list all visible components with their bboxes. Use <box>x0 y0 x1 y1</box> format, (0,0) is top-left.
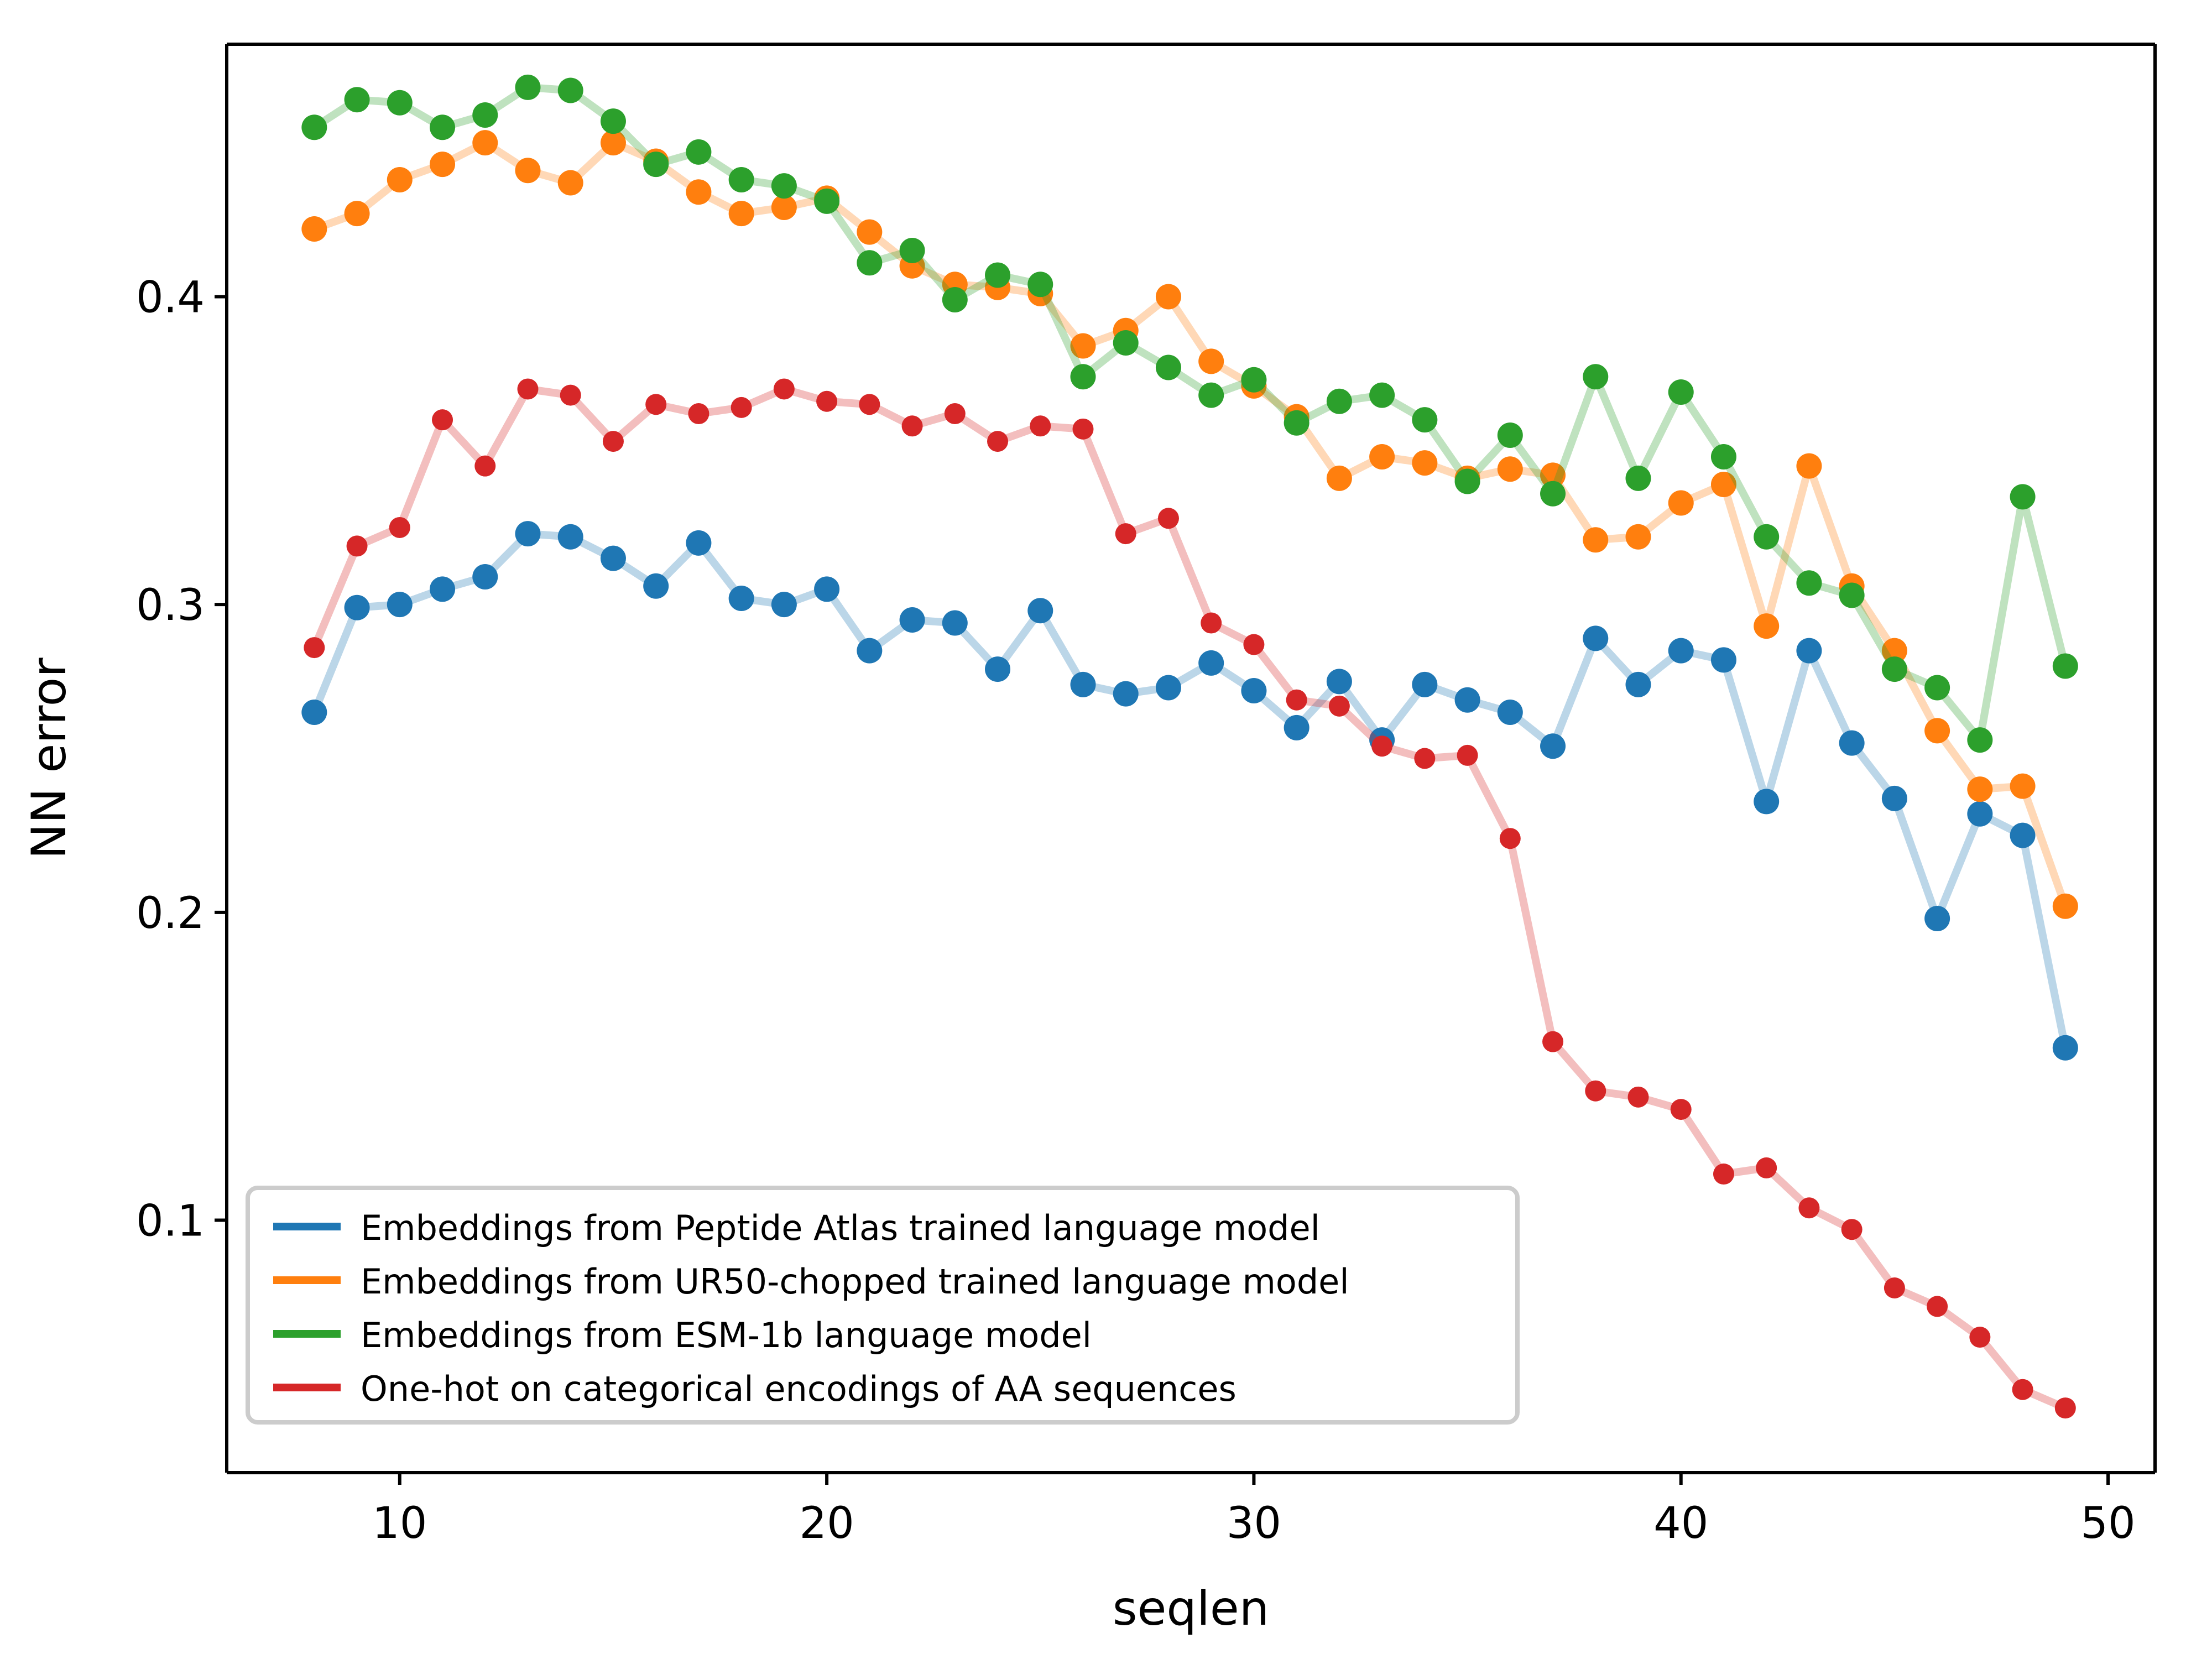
data-point <box>1542 1031 1563 1052</box>
data-point <box>1198 348 1224 374</box>
data-point <box>1027 272 1053 297</box>
data-point <box>729 167 754 192</box>
data-point <box>1369 444 1395 469</box>
data-point <box>1113 330 1139 356</box>
data-point <box>1668 490 1694 515</box>
data-point <box>900 238 925 263</box>
data-point <box>1286 690 1307 711</box>
data-point <box>2010 484 2036 509</box>
data-point <box>1884 1277 1905 1298</box>
data-point <box>1796 638 1822 664</box>
data-point <box>1156 284 1181 309</box>
data-point <box>1924 906 1950 931</box>
y-axis-ticks: 0.10.20.30.4 <box>136 273 227 1246</box>
data-point <box>560 385 581 406</box>
data-point <box>345 87 370 112</box>
data-point <box>1455 468 1480 494</box>
data-point <box>1158 508 1179 529</box>
y-tick-label: 0.4 <box>136 273 205 322</box>
data-point <box>1627 1087 1648 1108</box>
figure-canvas: 1020304050 0.10.20.30.4 seqlen NN error … <box>0 0 2212 1659</box>
data-point <box>1414 748 1435 769</box>
data-point <box>985 656 1010 682</box>
data-point <box>859 394 880 415</box>
data-point <box>517 378 538 399</box>
legend-label-0: Embeddings from Peptide Atlas trained la… <box>361 1208 1320 1248</box>
data-point <box>1713 1164 1734 1185</box>
data-point <box>1329 696 1350 717</box>
data-point <box>1924 675 1950 700</box>
data-point <box>304 637 325 658</box>
data-point <box>1625 524 1651 550</box>
data-point <box>1967 727 1992 753</box>
data-point <box>1371 735 1392 757</box>
data-point <box>472 102 498 128</box>
data-point <box>1198 650 1224 676</box>
data-point <box>301 700 327 725</box>
data-point <box>387 167 413 192</box>
data-point <box>1198 383 1224 408</box>
data-point <box>902 415 923 436</box>
data-point <box>857 638 882 664</box>
data-point <box>472 564 498 589</box>
data-point <box>515 75 540 100</box>
y-axis-title: NN error <box>22 658 77 859</box>
data-point <box>1927 1296 1948 1317</box>
data-point <box>1030 415 1051 436</box>
data-point <box>1796 453 1822 479</box>
data-point <box>1798 1197 1819 1218</box>
data-point <box>1625 466 1651 491</box>
data-point <box>1839 582 1865 608</box>
data-point <box>1241 367 1266 393</box>
data-point <box>688 403 709 424</box>
data-point <box>857 220 882 245</box>
legend: Embeddings from Peptide Atlas trained la… <box>248 1188 1517 1422</box>
data-point <box>1841 1219 1863 1240</box>
data-point <box>729 201 754 226</box>
data-point <box>1201 613 1222 634</box>
data-point <box>1369 383 1395 408</box>
data-point <box>474 456 495 477</box>
data-point <box>942 611 968 636</box>
data-point <box>389 517 410 538</box>
data-point <box>771 592 797 617</box>
data-point <box>2053 653 2078 679</box>
data-point <box>1754 613 1779 639</box>
x-tick-label: 20 <box>799 1499 854 1548</box>
data-point <box>1754 524 1779 550</box>
data-point <box>558 78 583 103</box>
data-point <box>1924 718 1950 743</box>
data-point <box>1967 776 1992 802</box>
data-point <box>942 287 968 312</box>
data-point <box>1668 638 1694 664</box>
data-point <box>1969 1327 1990 1348</box>
data-point <box>1967 801 1992 827</box>
data-point <box>1796 570 1822 596</box>
data-point <box>1412 450 1437 476</box>
data-point <box>2012 1379 2033 1400</box>
data-point <box>1070 364 1095 389</box>
data-point <box>2053 894 2078 919</box>
data-point <box>987 431 1008 452</box>
data-point <box>1500 828 1521 849</box>
data-point <box>857 250 882 275</box>
data-point <box>1711 647 1736 672</box>
data-point <box>771 173 797 199</box>
data-point <box>347 535 368 556</box>
data-point <box>945 403 966 424</box>
data-point <box>1455 687 1480 713</box>
data-point <box>1711 444 1736 469</box>
data-point <box>1540 481 1566 507</box>
data-point <box>1027 598 1053 623</box>
data-point <box>816 391 837 412</box>
data-point <box>558 170 583 196</box>
data-point <box>1072 419 1093 440</box>
data-point <box>601 108 626 134</box>
data-point <box>2010 774 2036 799</box>
data-point <box>387 592 413 617</box>
x-axis-title: seqlen <box>1113 1581 1270 1636</box>
data-point <box>1070 672 1095 697</box>
y-tick-label: 0.2 <box>136 889 205 938</box>
data-point <box>1243 634 1264 655</box>
x-tick-label: 50 <box>2080 1499 2135 1548</box>
data-point <box>814 576 839 602</box>
data-point <box>900 607 925 633</box>
data-point <box>686 179 711 205</box>
x-tick-label: 30 <box>1227 1499 1281 1548</box>
x-axis-ticks: 1020304050 <box>372 1473 2136 1548</box>
data-point <box>345 201 370 226</box>
data-point <box>643 573 669 599</box>
data-point <box>1754 789 1779 814</box>
data-point <box>472 130 498 155</box>
data-point <box>1412 672 1437 697</box>
data-point <box>1882 786 1907 811</box>
data-point <box>603 431 624 452</box>
data-point <box>1156 355 1181 380</box>
data-point <box>601 546 626 571</box>
data-point <box>645 394 666 415</box>
data-point <box>1671 1099 1692 1120</box>
data-point <box>1284 715 1310 740</box>
data-point <box>1498 422 1523 448</box>
data-point <box>643 152 669 177</box>
data-point <box>1412 407 1437 432</box>
data-point <box>430 576 455 602</box>
data-point <box>1625 672 1651 697</box>
data-point <box>387 90 413 116</box>
data-point <box>686 139 711 165</box>
data-point <box>1583 364 1608 389</box>
data-point <box>1327 669 1352 694</box>
data-point <box>1498 456 1523 482</box>
data-point <box>1882 656 1907 682</box>
data-point <box>1585 1081 1606 1102</box>
data-point <box>301 216 327 242</box>
x-tick-label: 10 <box>372 1499 427 1548</box>
data-point <box>1241 678 1266 703</box>
data-point <box>1756 1157 1777 1178</box>
y-tick-label: 0.1 <box>136 1197 205 1246</box>
data-point <box>1668 379 1694 405</box>
data-point <box>814 189 839 214</box>
data-point <box>515 158 540 183</box>
data-point <box>1498 700 1523 725</box>
data-point <box>301 114 327 140</box>
data-point <box>731 397 752 418</box>
data-point <box>686 530 711 556</box>
data-point <box>729 586 754 611</box>
data-point <box>1583 625 1608 651</box>
data-point <box>515 521 540 546</box>
data-point <box>985 263 1010 288</box>
data-point <box>1156 675 1181 700</box>
data-point <box>2053 1035 2078 1061</box>
legend-label-1: Embeddings from UR50-chopped trained lan… <box>361 1261 1349 1302</box>
data-point <box>2010 823 2036 848</box>
data-point <box>1284 410 1310 436</box>
data-point <box>430 114 455 140</box>
x-tick-label: 40 <box>1653 1499 1708 1548</box>
data-point <box>1113 681 1139 707</box>
data-point <box>558 524 583 550</box>
data-point <box>345 595 370 620</box>
chart-svg: 1020304050 0.10.20.30.4 seqlen NN error … <box>0 0 2212 1659</box>
data-point <box>2055 1397 2076 1418</box>
data-point <box>1457 745 1478 766</box>
legend-label-3: One-hot on categorical encodings of AA s… <box>361 1369 1237 1409</box>
data-point <box>430 152 455 177</box>
data-point <box>1327 389 1352 414</box>
data-point <box>1115 523 1136 544</box>
data-point <box>432 409 453 430</box>
data-point <box>1583 527 1608 552</box>
y-tick-label: 0.3 <box>136 581 205 630</box>
data-point <box>774 378 795 399</box>
data-point <box>1839 731 1865 756</box>
legend-label-2: Embeddings from ESM-1b language model <box>361 1315 1092 1355</box>
data-point <box>1327 466 1352 491</box>
data-point <box>1540 733 1566 759</box>
